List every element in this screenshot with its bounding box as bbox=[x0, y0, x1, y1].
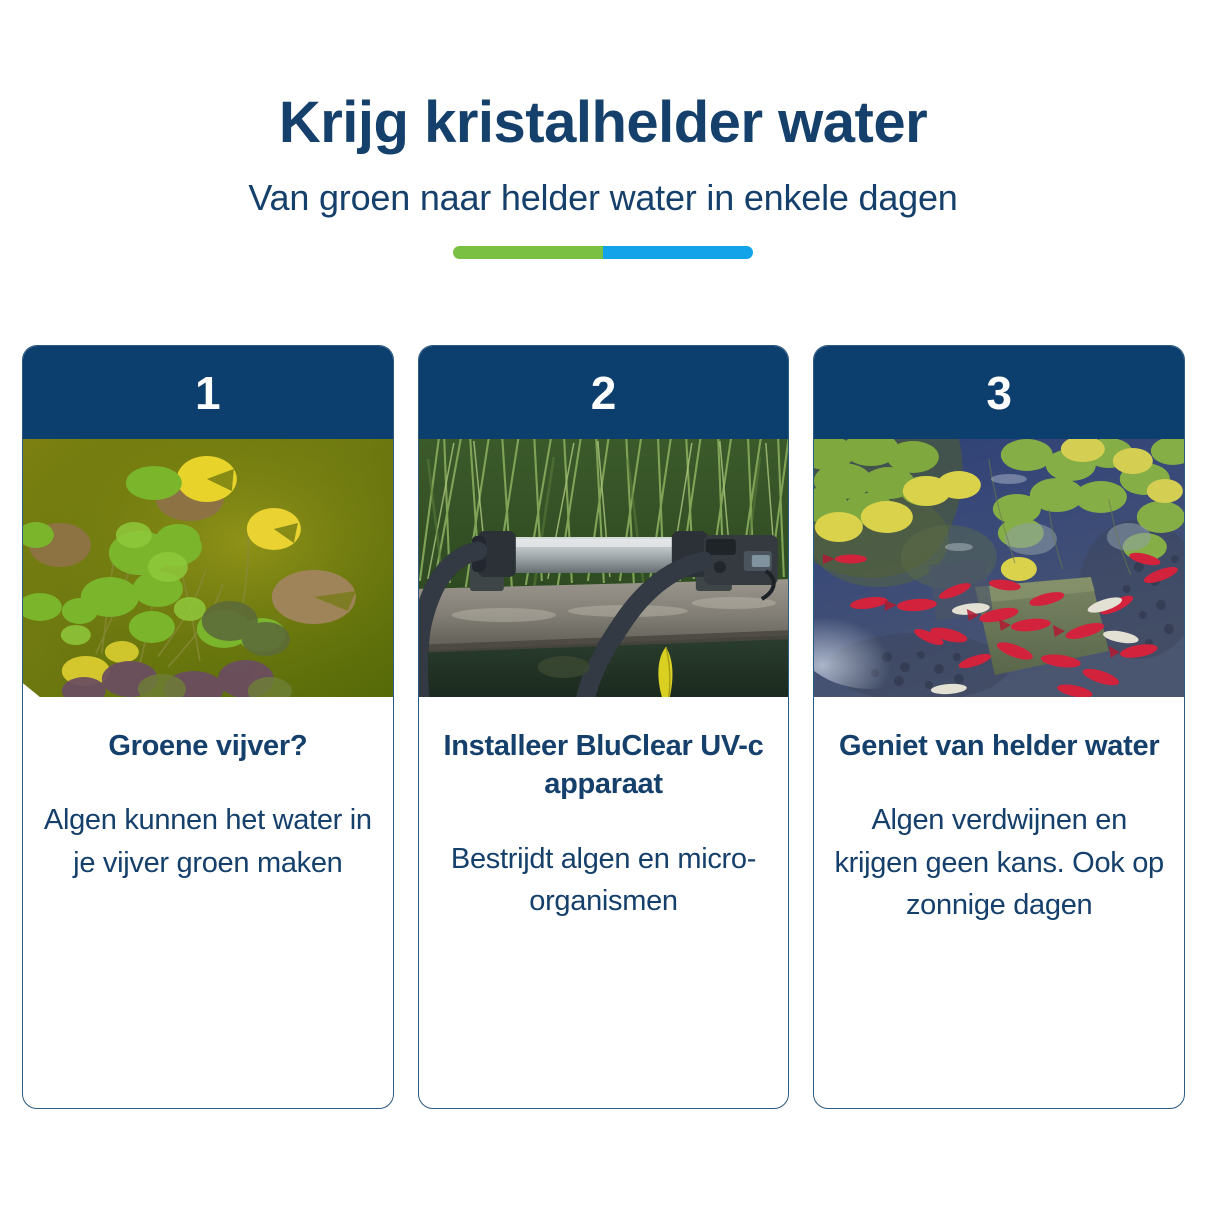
step-card-2-title: Installeer BluClear UV-c apparaat bbox=[437, 727, 771, 804]
step-card-2-header: 2 bbox=[419, 346, 789, 439]
step-number-badge: 3 bbox=[986, 370, 1012, 416]
steps-card-row: 1 bbox=[22, 345, 1185, 1109]
step-card-3-header: 3 bbox=[814, 346, 1184, 439]
step-number-badge: 1 bbox=[195, 370, 221, 416]
page-title: Krijg kristalhelder water bbox=[0, 92, 1206, 155]
step-card-3-text: Algen verdwijnen en krijgen geen kans. O… bbox=[832, 799, 1166, 926]
step-card-1-title: Groene vijver? bbox=[41, 727, 375, 765]
uvc-device-photo bbox=[419, 439, 789, 697]
step-number-badge: 2 bbox=[591, 370, 617, 416]
step-card-1-body: Groene vijver? Algen kunnen het water in… bbox=[23, 697, 393, 1108]
page-subtitle: Van groen naar helder water in enkele da… bbox=[0, 177, 1206, 218]
step-card-2-text: Bestrijdt algen en micro-organismen bbox=[437, 838, 771, 923]
divider-blue-segment bbox=[603, 246, 753, 259]
header-section: Krijg kristalhelder water Van groen naar… bbox=[0, 0, 1206, 259]
step-card-1-text: Algen kunnen het water in je vijver groe… bbox=[41, 799, 375, 884]
divider-green-segment bbox=[453, 246, 603, 259]
clear-pond-koi-photo bbox=[814, 439, 1184, 697]
step-card-1[interactable]: 1 bbox=[22, 345, 394, 1109]
green-algae-pond-photo bbox=[23, 439, 393, 697]
step-card-3[interactable]: 3 bbox=[813, 345, 1185, 1109]
step-card-3-title: Geniet van helder water bbox=[832, 727, 1166, 765]
step-card-2[interactable]: 2 bbox=[418, 345, 790, 1109]
infographic-page: Krijg kristalhelder water Van groen naar… bbox=[0, 0, 1206, 1206]
divider-bar bbox=[453, 246, 753, 259]
step-card-3-body: Geniet van helder water Algen verdwijnen… bbox=[814, 697, 1184, 1108]
step-card-1-header: 1 bbox=[23, 346, 393, 439]
step-card-2-body: Installeer BluClear UV-c apparaat Bestri… bbox=[419, 697, 789, 1108]
